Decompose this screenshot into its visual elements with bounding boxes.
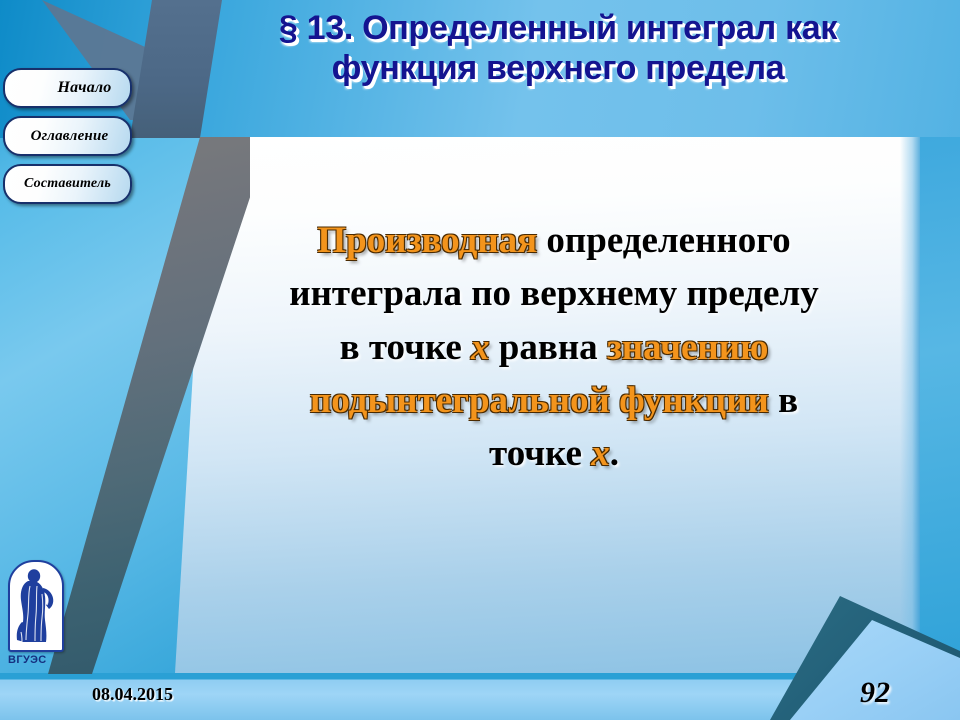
slide-title-line-2: функция верхнего предела [188, 48, 928, 88]
vgues-emblem-icon [8, 560, 64, 652]
nav-button-nachalo-label: Начало [23, 79, 111, 97]
slide-page-number: 92 [860, 676, 890, 710]
body-text-part-6: точке [489, 433, 591, 474]
body-variable-x-1: x [471, 327, 490, 368]
navigation-button-group: Начало Оглавление Составитель [3, 68, 138, 212]
body-variable-x-2: x [591, 433, 610, 474]
nav-button-oglavlenie[interactable]: Оглавление [3, 116, 132, 156]
nav-button-sostavitel[interactable]: Составитель [3, 164, 132, 204]
presentation-slide: § 13. Определенный интеграл как функция … [0, 0, 960, 720]
nav-button-sostavitel-label: Составитель [24, 176, 111, 192]
vgues-logo: ВГУЭС [8, 560, 66, 666]
body-highlight-proizvodnaya: Производная [317, 220, 537, 261]
slide-title: § 13. Определенный интеграл как функция … [188, 8, 928, 88]
vgues-logo-label: ВГУЭС [8, 654, 66, 666]
body-highlight-podyntegralnoy-funkcii: подынтегральной функции [310, 380, 769, 421]
slide-title-line-1: § 13. Определенный интеграл как [188, 8, 928, 48]
nav-button-oglavlenie-label: Оглавление [27, 128, 109, 145]
body-text-part-1: определенного [537, 220, 790, 261]
body-text-part-7: . [610, 433, 619, 474]
body-text-part-4: равна [490, 327, 607, 368]
body-text-part-3: в точке [340, 327, 471, 368]
body-text-part-5: в [769, 380, 798, 421]
right-edge-strip [920, 137, 960, 673]
slide-body-text: Производная определенного интеграла по в… [196, 214, 912, 480]
slide-date: 08.04.2015 [92, 684, 173, 705]
body-text-part-2: интеграла по верхнему пределу [289, 273, 818, 314]
body-highlight-znacheniyu: значению [607, 327, 768, 368]
nav-button-nachalo[interactable]: Начало [3, 68, 132, 108]
